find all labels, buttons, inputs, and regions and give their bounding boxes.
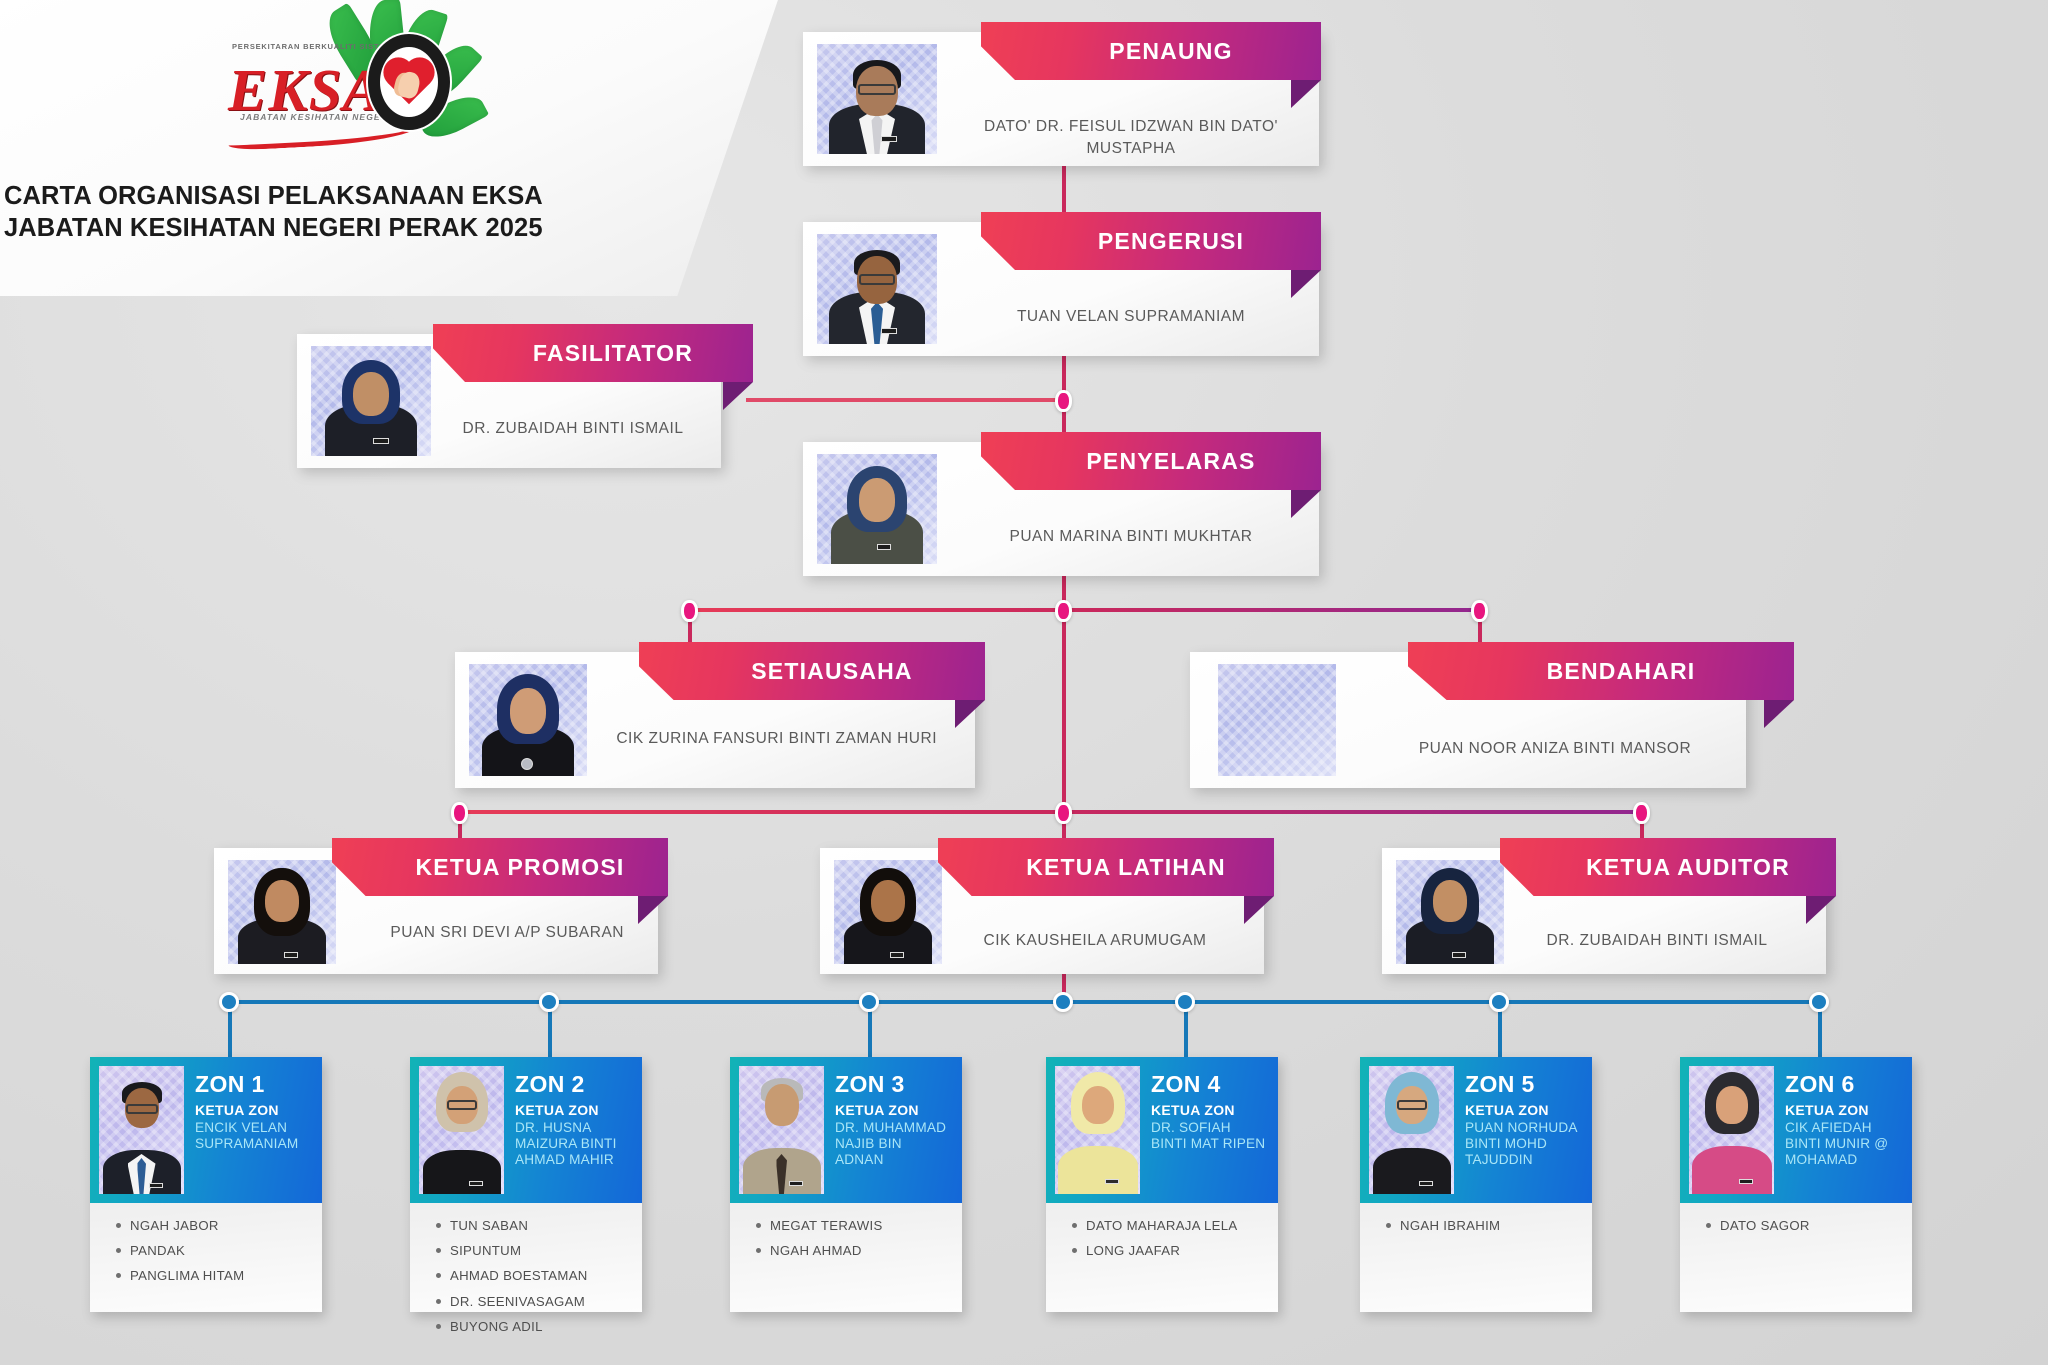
zone-card-4[interactable]: ZON 4 KETUA ZON DR. SOFIAH BINTI MAT RIP… [1046, 1057, 1278, 1312]
connector-officers-bar [688, 608, 1478, 612]
card-penaung[interactable]: PENAUNG DATO' DR. FEISUL IDZWAN BIN DATO… [803, 32, 1319, 166]
zone-meta: ZON 3 KETUA ZON DR. MUHAMMAD NAJIB BIN A… [824, 1066, 953, 1168]
role-banner-bendahari: BENDAHARI [1408, 642, 1794, 700]
list-item: MEGAT TERAWIS [756, 1219, 952, 1232]
node-center-officers [1055, 600, 1072, 622]
zone-title: ZON 1 [195, 1072, 313, 1096]
node-ketua-latihan [1055, 802, 1072, 824]
page-title-line2: JABATAN KESIHATAN NEGERI PERAK 2025 [4, 212, 704, 244]
role-label: FASILITATOR [493, 340, 693, 367]
person-name: DR. ZUBAIDAH BINTI ISMAIL [1512, 930, 1802, 952]
card-setiausaha[interactable]: SETIAUSAHA CIK ZURINA FANSURI BINTI ZAMA… [455, 652, 975, 788]
node-bendahari [1471, 600, 1488, 622]
avatar-pengerusi [817, 234, 937, 344]
ribbon-fold [1291, 270, 1321, 298]
person-name: CIK ZURINA FANSURI BINTI ZAMAN HURI [607, 728, 937, 750]
list-item: DR. SEENIVASAGAM [436, 1295, 632, 1308]
zone-role-label: KETUA ZON [1151, 1103, 1269, 1118]
ribbon-fold [1764, 700, 1794, 728]
role-label: PENYELARAS [1046, 448, 1255, 475]
connector-center-to-ketua [1062, 610, 1066, 810]
page-title-line1: CARTA ORGANISASI PELAKSANAAN EKSA [4, 180, 704, 212]
avatar-penaung [817, 44, 937, 154]
zone-card-3[interactable]: ZON 3 KETUA ZON DR. MUHAMMAD NAJIB BIN A… [730, 1057, 962, 1312]
avatar-ketua-auditor [1396, 860, 1504, 964]
zone-meta: ZON 4 KETUA ZON DR. SOFIAH BINTI MAT RIP… [1140, 1066, 1269, 1152]
avatar-fasilitator [311, 346, 431, 456]
list-item: NGAH JABOR [116, 1219, 312, 1232]
zone-role-label: KETUA ZON [1785, 1103, 1903, 1118]
role-label: SETIAUSAHA [711, 658, 913, 685]
zone-role-label: KETUA ZON [835, 1103, 953, 1118]
zone-card-1[interactable]: ZON 1 KETUA ZON ENCIK VELAN SUPRAMANIAM … [90, 1057, 322, 1312]
ribbon-fold [638, 896, 668, 924]
list-item: BUYONG ADIL [436, 1320, 632, 1333]
zone-title: ZON 2 [515, 1072, 633, 1096]
ribbon-fold [1291, 490, 1321, 518]
zone-role-label: KETUA ZON [195, 1103, 313, 1118]
role-banner-setiausaha: SETIAUSAHA [639, 642, 985, 700]
zone-member-list: DATO MAHARAJA LELA LONG JAAFAR [1046, 1203, 1278, 1277]
person-name: DATO' DR. FEISUL IDZWAN BIN DATO' MUSTAP… [951, 116, 1311, 161]
zone-leader-name: PUAN NORHUDA BINTI MOHD TAJUDDIN [1465, 1120, 1583, 1168]
person-name: PUAN SRI DEVI A/P SUBARAN [344, 922, 624, 944]
zone-member-list: TUN SABAN SIPUNTUM AHMAD BOESTAMAN DR. S… [410, 1203, 642, 1353]
role-banner-pengerusi: PENGERUSI [981, 212, 1321, 270]
card-pengerusi[interactable]: PENGERUSI TUAN VELAN SUPRAMANIAM [803, 222, 1319, 356]
node-zone-2 [539, 992, 559, 1012]
avatar-setiausaha [469, 664, 587, 776]
list-item: TUN SABAN [436, 1219, 632, 1232]
zone-title: ZON 3 [835, 1072, 953, 1096]
eksa-logo: PERSEKITARAN BERKUALITI SISTEM KUALITI E… [228, 4, 528, 164]
card-bendahari[interactable]: BENDAHARI PUAN NOOR ANIZA BINTI MANSOR [1190, 652, 1746, 788]
node-zone-6 [1809, 992, 1829, 1012]
ribbon-fold [1244, 896, 1274, 924]
list-item: AHMAD BOESTAMAN [436, 1269, 632, 1282]
zone-member-list: NGAH IBRAHIM [1360, 1203, 1592, 1252]
zone-header: ZON 2 KETUA ZON DR. HUSNA MAIZURA BINTI … [410, 1057, 642, 1203]
zone-meta: ZON 1 KETUA ZON ENCIK VELAN SUPRAMANIAM [184, 1066, 313, 1152]
node-fasilitator [1055, 390, 1072, 412]
list-item: PANGLIMA HITAM [116, 1269, 312, 1282]
avatar-zone-leader [1055, 1066, 1140, 1194]
person-name: DR. ZUBAIDAH BINTI ISMAIL [437, 418, 709, 440]
avatar-zone-leader [419, 1066, 504, 1194]
role-label: KETUA LATIHAN [986, 854, 1226, 881]
role-banner-ketua-auditor: KETUA AUDITOR [1500, 838, 1836, 896]
avatar-penyelaras [817, 454, 937, 564]
zone-member-list: MEGAT TERAWIS NGAH AHMAD [730, 1203, 962, 1277]
ribbon-fold [955, 700, 985, 728]
role-label: KETUA AUDITOR [1546, 854, 1790, 881]
node-zone-3 [859, 992, 879, 1012]
zone-leader-name: DR. SOFIAH BINTI MAT RIPEN [1151, 1120, 1269, 1152]
zone-header: ZON 3 KETUA ZON DR. MUHAMMAD NAJIB BIN A… [730, 1057, 962, 1203]
zone-meta: ZON 2 KETUA ZON DR. HUSNA MAIZURA BINTI … [504, 1066, 633, 1168]
logo-heart-badge-icon [368, 34, 450, 130]
zone-card-5[interactable]: ZON 5 KETUA ZON PUAN NORHUDA BINTI MOHD … [1360, 1057, 1592, 1312]
ribbon-fold [1291, 80, 1321, 108]
page-title: CARTA ORGANISASI PELAKSANAAN EKSA JABATA… [4, 180, 704, 244]
role-banner-ketua-promosi: KETUA PROMOSI [332, 838, 668, 896]
role-label: PENAUNG [1069, 38, 1232, 65]
zone-leader-name: CIK AFIEDAH BINTI MUNIR @ MOHAMAD [1785, 1120, 1903, 1168]
node-zone-center [1053, 992, 1073, 1012]
zone-role-label: KETUA ZON [515, 1103, 633, 1118]
card-ketua-auditor[interactable]: KETUA AUDITOR DR. ZUBAIDAH BINTI ISMAIL [1382, 848, 1826, 974]
node-ketua-auditor [1633, 802, 1650, 824]
card-fasilitator[interactable]: FASILITATOR DR. ZUBAIDAH BINTI ISMAIL [297, 334, 721, 468]
ribbon-fold [723, 382, 753, 410]
zone-leader-name: DR. MUHAMMAD NAJIB BIN ADNAN [835, 1120, 953, 1168]
zone-member-list: DATO SAGOR [1680, 1203, 1912, 1252]
zone-leader-name: ENCIK VELAN SUPRAMANIAM [195, 1120, 313, 1152]
zone-member-list: NGAH JABOR PANDAK PANGLIMA HITAM [90, 1203, 322, 1303]
person-name: TUAN VELAN SUPRAMANIAM [951, 306, 1311, 328]
avatar-ketua-promosi [228, 860, 336, 964]
avatar-zone-leader [1369, 1066, 1454, 1194]
list-item: DATO MAHARAJA LELA [1072, 1219, 1268, 1232]
avatar-zone-leader [739, 1066, 824, 1194]
node-ketua-promosi [451, 802, 468, 824]
zone-meta: ZON 5 KETUA ZON PUAN NORHUDA BINTI MOHD … [1454, 1066, 1583, 1168]
node-zone-1 [219, 992, 239, 1012]
role-label: KETUA PROMOSI [376, 854, 625, 881]
title-panel: PERSEKITARAN BERKUALITI SISTEM KUALITI E… [0, 0, 780, 296]
connector-ketua-bar [458, 810, 1640, 814]
node-setiausaha [681, 600, 698, 622]
list-item: NGAH IBRAHIM [1386, 1219, 1582, 1232]
ribbon-fold [1806, 896, 1836, 924]
role-label: PENGERUSI [1058, 228, 1244, 255]
list-item: SIPUNTUM [436, 1244, 632, 1257]
zone-card-2[interactable]: ZON 2 KETUA ZON DR. HUSNA MAIZURA BINTI … [410, 1057, 642, 1312]
avatar-ketua-latihan [834, 860, 942, 964]
role-banner-penyelaras: PENYELARAS [981, 432, 1321, 490]
avatar-zone-leader [1689, 1066, 1774, 1194]
zone-role-label: KETUA ZON [1465, 1103, 1583, 1118]
role-banner-ketua-latihan: KETUA LATIHAN [938, 838, 1274, 896]
list-item: NGAH AHMAD [756, 1244, 952, 1257]
zone-meta: ZON 6 KETUA ZON CIK AFIEDAH BINTI MUNIR … [1774, 1066, 1903, 1168]
zone-leader-name: DR. HUSNA MAIZURA BINTI AHMAD MAHIR [515, 1120, 633, 1168]
role-banner-penaung: PENAUNG [981, 22, 1321, 80]
node-zone-4 [1175, 992, 1195, 1012]
connector-zone-bar [228, 1000, 1817, 1004]
avatar-bendahari-placeholder [1218, 664, 1336, 776]
node-zone-5 [1489, 992, 1509, 1012]
list-item: LONG JAAFAR [1072, 1244, 1268, 1257]
zone-title: ZON 4 [1151, 1072, 1269, 1096]
zone-header: ZON 6 KETUA ZON CIK AFIEDAH BINTI MUNIR … [1680, 1057, 1912, 1203]
list-item: DATO SAGOR [1706, 1219, 1902, 1232]
zone-header: ZON 5 KETUA ZON PUAN NORHUDA BINTI MOHD … [1360, 1057, 1592, 1203]
zone-header: ZON 4 KETUA ZON DR. SOFIAH BINTI MAT RIP… [1046, 1057, 1278, 1203]
card-ketua-promosi[interactable]: KETUA PROMOSI PUAN SRI DEVI A/P SUBARAN [214, 848, 658, 974]
role-banner-fasilitator: FASILITATOR [433, 324, 753, 382]
connector-fasilitator [746, 398, 1066, 402]
zone-title: ZON 5 [1465, 1072, 1583, 1096]
card-ketua-latihan[interactable]: KETUA LATIHAN CIK KAUSHEILA ARUMUGAM [820, 848, 1264, 974]
person-name: PUAN MARINA BINTI MUKHTAR [951, 526, 1311, 548]
zone-card-6[interactable]: ZON 6 KETUA ZON CIK AFIEDAH BINTI MUNIR … [1680, 1057, 1912, 1312]
person-name: PUAN NOOR ANIZA BINTI MANSOR [1380, 738, 1730, 760]
zone-header: ZON 1 KETUA ZON ENCIK VELAN SUPRAMANIAM [90, 1057, 322, 1203]
person-name: CIK KAUSHEILA ARUMUGAM [950, 930, 1240, 952]
role-label: BENDAHARI [1507, 658, 1696, 685]
avatar-zone-leader [99, 1066, 184, 1194]
zone-title: ZON 6 [1785, 1072, 1903, 1096]
list-item: PANDAK [116, 1244, 312, 1257]
card-penyelaras[interactable]: PENYELARAS PUAN MARINA BINTI MUKHTAR [803, 442, 1319, 576]
